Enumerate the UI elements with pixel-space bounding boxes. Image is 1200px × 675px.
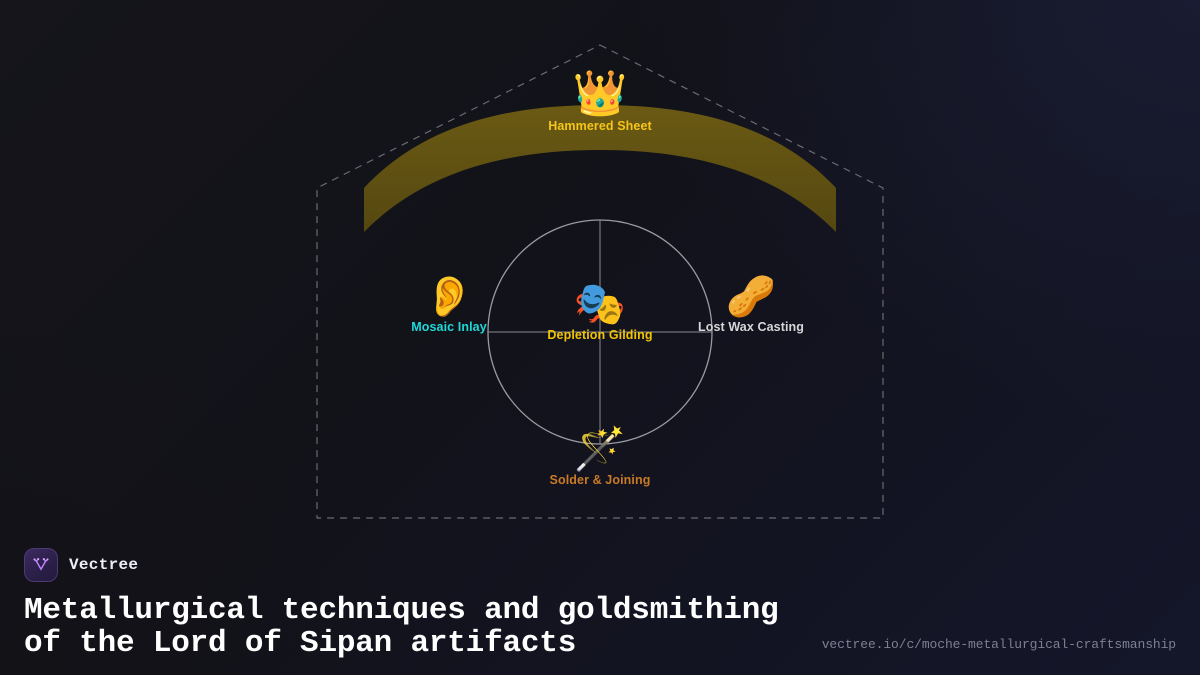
source-url: vectree.io/c/moche-metallurgical-craftsm… bbox=[822, 637, 1176, 652]
peanuts-icon: 🥜 bbox=[698, 277, 804, 317]
node-mosaic-inlay[interactable]: 👂 Mosaic Inlay bbox=[411, 277, 487, 334]
ear-icon: 👂 bbox=[411, 277, 487, 317]
page-title: Metallurgical techniques and goldsmithin… bbox=[24, 595, 784, 661]
node-depletion-gilding[interactable]: 🎭 Depletion Gilding bbox=[547, 283, 652, 342]
node-hammered-sheet[interactable]: 👑 Hammered Sheet bbox=[548, 72, 652, 133]
crown-icon: 👑 bbox=[548, 72, 652, 116]
magic-wand-icon: 🪄 bbox=[550, 428, 651, 470]
node-label: Depletion Gilding bbox=[547, 328, 652, 342]
footer: Vectree Metallurgical techniques and gol… bbox=[0, 548, 1200, 675]
node-label: Mosaic Inlay bbox=[411, 320, 487, 334]
node-lost-wax-casting[interactable]: 🥜 Lost Wax Casting bbox=[698, 277, 804, 334]
brand-name: Vectree bbox=[69, 556, 138, 574]
node-solder-joining[interactable]: 🪄 Solder & Joining bbox=[550, 428, 651, 487]
screenshot-canvas: 👑 Hammered Sheet 👂 Mosaic Inlay 🎭 Deplet… bbox=[0, 0, 1200, 675]
vectree-v-logo-icon bbox=[31, 555, 51, 575]
vectree-logo[interactable] bbox=[24, 548, 58, 582]
performing-arts-masks-icon: 🎭 bbox=[547, 283, 652, 325]
node-label: Hammered Sheet bbox=[548, 119, 652, 133]
brand-row: Vectree bbox=[24, 548, 1176, 582]
node-label: Solder & Joining bbox=[550, 473, 651, 487]
node-label: Lost Wax Casting bbox=[698, 320, 804, 334]
